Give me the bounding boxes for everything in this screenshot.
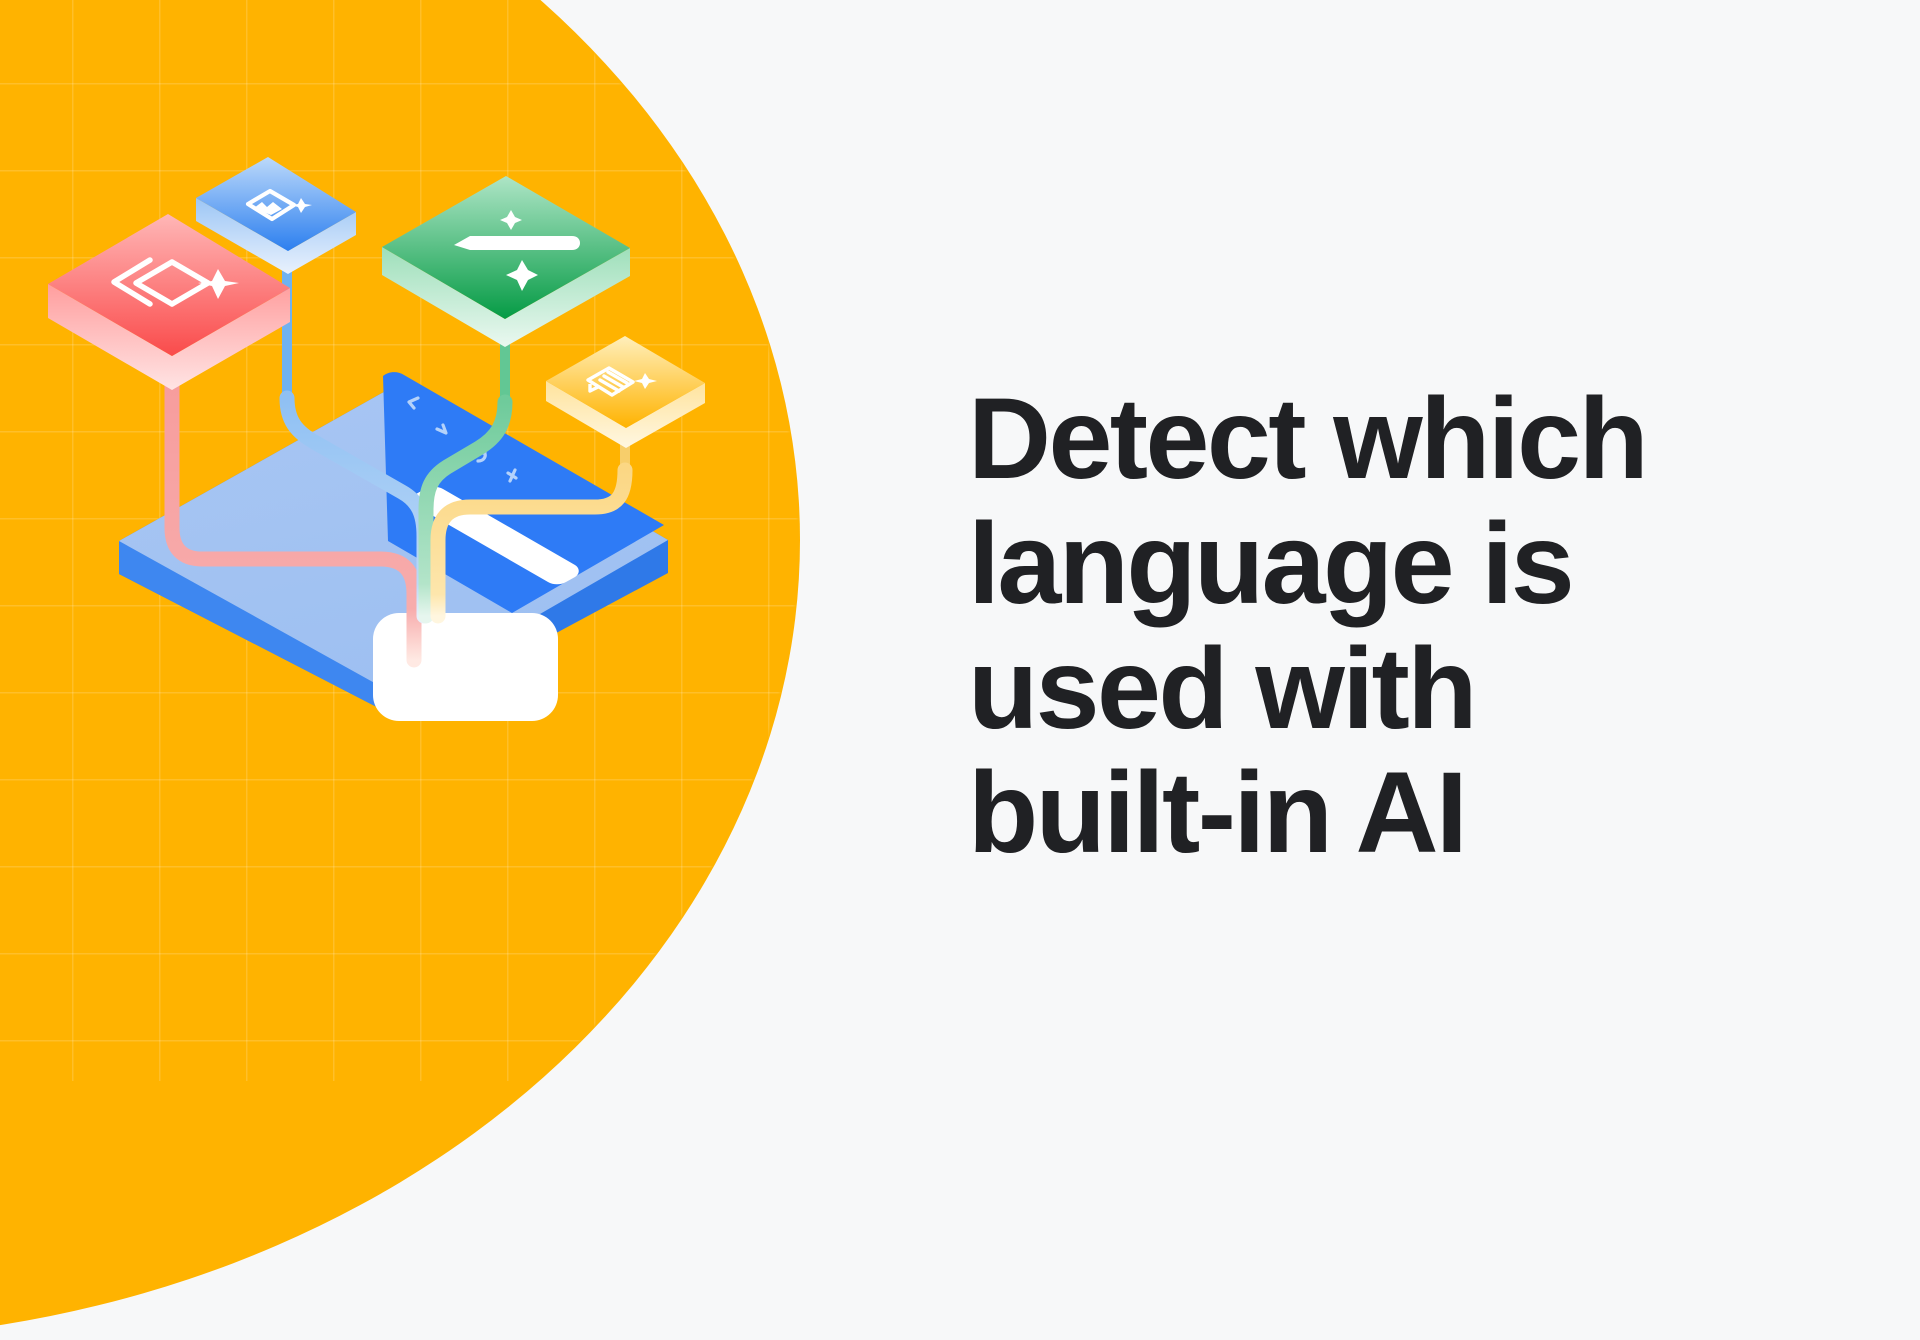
page-root: Detect which language is used with built… [0, 0, 1920, 1081]
card-write [382, 176, 630, 347]
page-title: Detect which language is used with built… [968, 377, 1798, 876]
pencil [454, 236, 580, 250]
card-summarize [546, 336, 705, 448]
ai-output-card [373, 613, 558, 721]
headline-line-3: used with [968, 627, 1798, 752]
headline-line-2: language is [968, 502, 1798, 627]
illustration-container [0, 0, 820, 1081]
headline-line-4: built-in AI [968, 751, 1798, 876]
headline-line-1: Detect which [968, 377, 1798, 502]
